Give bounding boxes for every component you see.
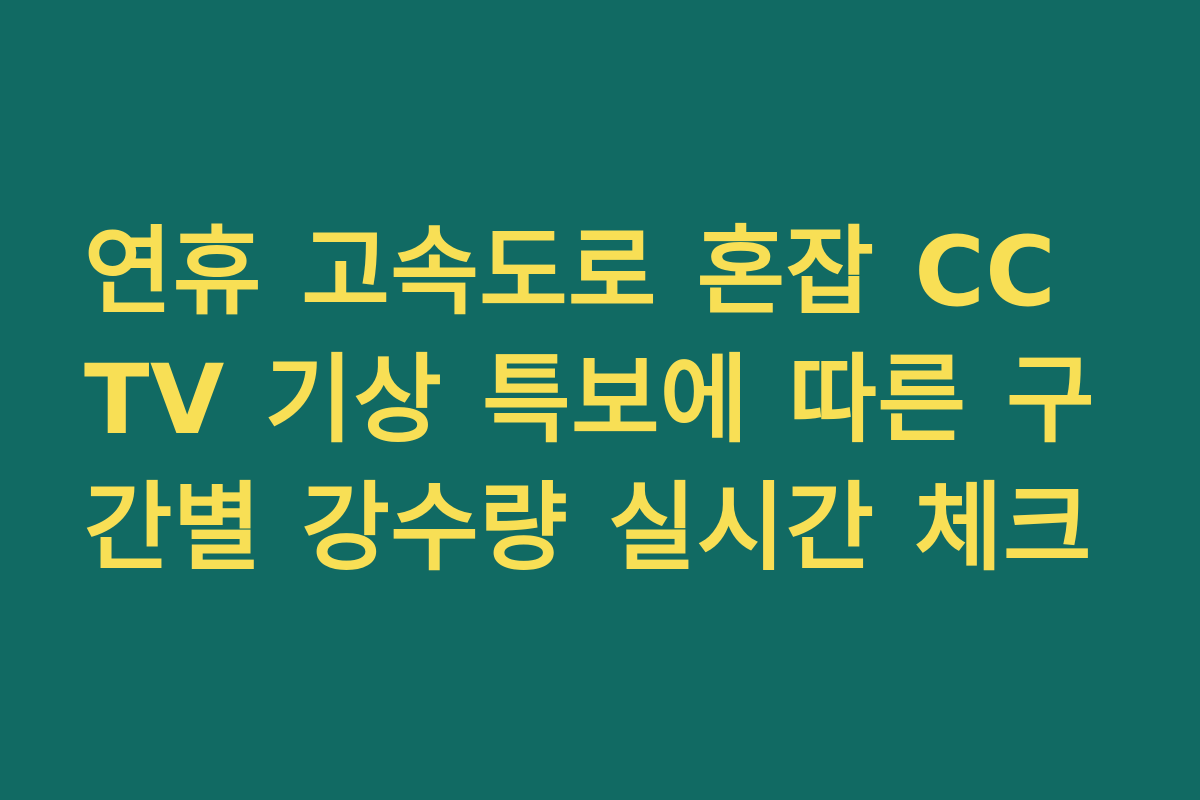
text-banner: 연휴 고속도로 혼잡 CCTV 기상 특보에 따른 구간별 강수량 실시간 체크 <box>0 0 1200 800</box>
banner-headline: 연휴 고속도로 혼잡 CCTV 기상 특보에 따른 구간별 강수량 실시간 체크 <box>84 208 1116 592</box>
